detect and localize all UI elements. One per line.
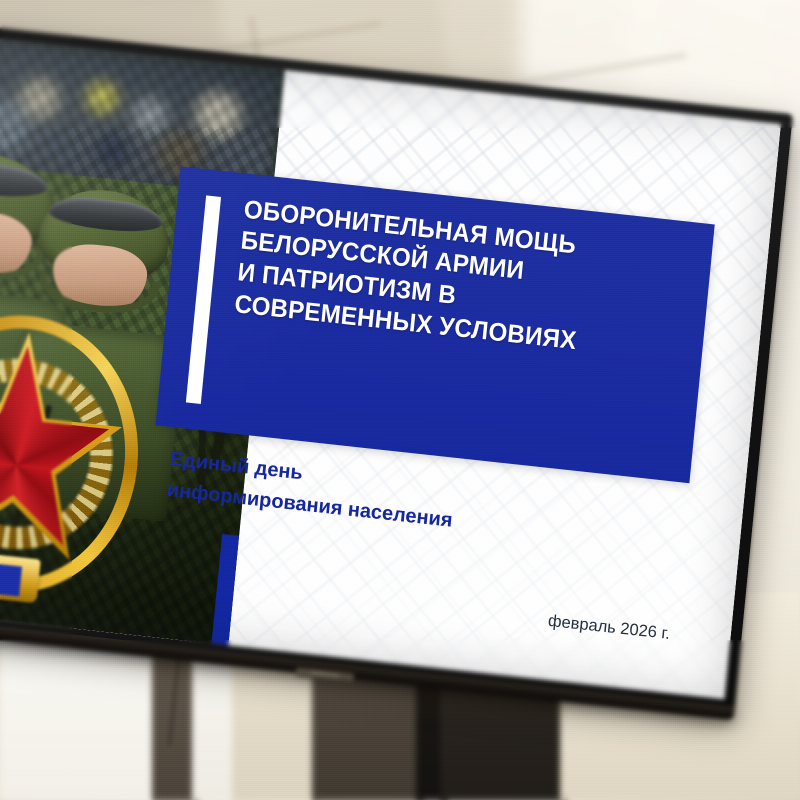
display-monitor[interactable]: SAMSUNG — [0, 25, 793, 712]
presentation-slide: ОБОРОНИТЕЛЬНАЯ МОЩЬ БЕЛОРУССКОЙ АРМИИ И … — [0, 37, 781, 700]
photo-scene: SAMSUNG — [0, 0, 800, 800]
title-accent-bar — [186, 195, 222, 404]
monitor-screen[interactable]: ОБОРОНИТЕЛЬНАЯ МОЩЬ БЕЛОРУССКОЙ АРМИИ И … — [0, 37, 781, 700]
slide-title: ОБОРОНИТЕЛЬНАЯ МОЩЬ БЕЛОРУССКОЙ АРМИИ И … — [233, 194, 674, 366]
soldier-helmet — [35, 183, 173, 286]
